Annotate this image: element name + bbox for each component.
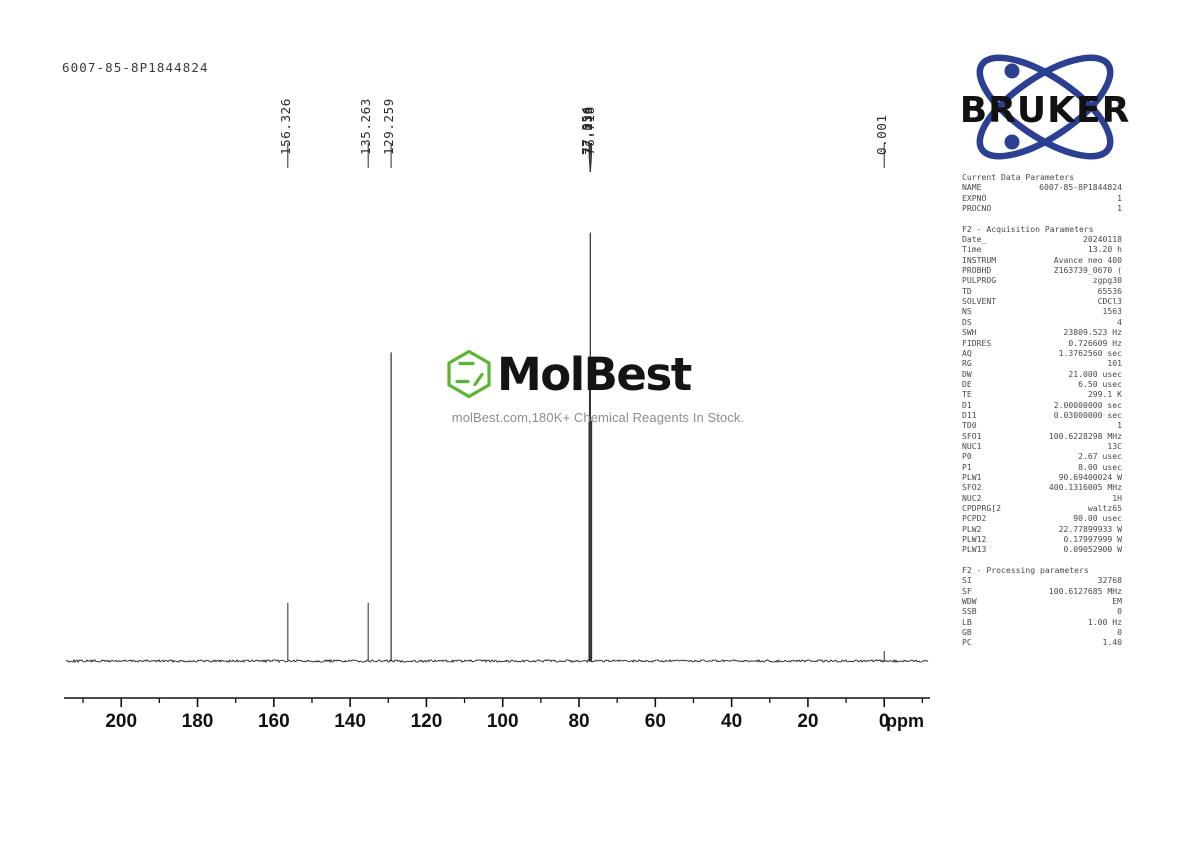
param-value: 1 — [1117, 203, 1122, 213]
param-row: P02.67 usec — [962, 451, 1122, 461]
param-key: P1 — [962, 462, 972, 472]
param-key: SFO1 — [962, 431, 982, 441]
axis-tick-label: 20 — [797, 711, 818, 732]
axis-tick-label: 180 — [182, 711, 214, 732]
param-value: 0.09052900 W — [1064, 544, 1122, 554]
param-value: 21.000 usec — [1068, 369, 1122, 379]
param-row: PROBHDZ163739_0670 ( — [962, 265, 1122, 275]
param-row: D12.00000000 sec — [962, 400, 1122, 410]
param-value: 1.40 — [1103, 637, 1123, 647]
param-value: 1.00 Hz — [1088, 617, 1122, 627]
axis-tick-label: 80 — [568, 711, 589, 732]
param-value: 4 — [1117, 317, 1122, 327]
param-value: 101 — [1107, 358, 1122, 368]
param-value: 0.726609 Hz — [1068, 338, 1122, 348]
param-value: 0 — [1117, 606, 1122, 616]
param-value: 13.20 h — [1088, 244, 1122, 254]
param-key: AQ — [962, 348, 972, 358]
param-key: PLW1 — [962, 472, 982, 482]
param-row: SI32768 — [962, 575, 1122, 585]
param-row: LB1.00 Hz — [962, 617, 1122, 627]
spectrum-canvas: 200180160140120100806040200ppm — [0, 0, 940, 760]
axis-unit-label: ppm — [886, 711, 924, 731]
param-value: Avance neo 400 — [1054, 255, 1122, 265]
param-section-title-current: Current Data Parameters — [962, 172, 1122, 182]
param-key: PULPROG — [962, 275, 996, 285]
param-key: NS — [962, 306, 972, 316]
param-value: 90.00 usec — [1073, 513, 1122, 523]
param-value: Z163739_0670 ( — [1054, 265, 1122, 275]
param-value: 100.6127685 MHz — [1049, 586, 1122, 596]
param-key: NUC2 — [962, 493, 982, 503]
param-key: SWH — [962, 327, 977, 337]
axis-tick-label: 60 — [645, 711, 666, 732]
param-row: PCPD290.00 usec — [962, 513, 1122, 523]
param-key: P0 — [962, 451, 972, 461]
axis-tick-label: 40 — [721, 711, 742, 732]
param-row: PLW120.17997999 W — [962, 534, 1122, 544]
param-value: 0 — [1117, 627, 1122, 637]
param-key: TD — [962, 286, 972, 296]
param-row: SWH23809.523 Hz — [962, 327, 1122, 337]
param-value: 23809.523 Hz — [1064, 327, 1122, 337]
peak-label: 135.263 — [358, 98, 373, 155]
param-row: Time13.20 h — [962, 244, 1122, 254]
param-row: INSTRUMAvance neo 400 — [962, 255, 1122, 265]
param-value: 0.03000000 sec — [1054, 410, 1122, 420]
param-key: SI — [962, 575, 972, 585]
param-row: DE6.50 usec — [962, 379, 1122, 389]
param-section-title-acquisition: F2 - Acquisition Parameters — [962, 224, 1122, 234]
peak-label: 156.326 — [278, 98, 293, 155]
param-key: LB — [962, 617, 972, 627]
param-row: WDWEM — [962, 596, 1122, 606]
param-value: 6007-85-8P1844824 — [1039, 182, 1122, 192]
spectrum-trace — [66, 233, 928, 662]
param-key: PCPD2 — [962, 513, 986, 523]
param-value: 6.50 usec — [1078, 379, 1122, 389]
nmr-spectrum-plot: 200180160140120100806040200ppm — [0, 0, 940, 760]
param-row: TD65536 — [962, 286, 1122, 296]
param-value: waltz65 — [1088, 503, 1122, 513]
param-key: PC — [962, 637, 972, 647]
param-value: 1.3762560 sec — [1059, 348, 1122, 358]
param-key: Time — [962, 244, 982, 254]
axis-tick-label: 140 — [334, 711, 366, 732]
peak-label: 76.718 — [582, 106, 597, 155]
param-key: PROBHD — [962, 265, 991, 275]
param-list-current: NAME6007-85-8P1844824EXPNO1PROCNO1 — [962, 182, 1122, 213]
acquisition-parameters-panel: Current Data Parameters NAME6007-85-8P18… — [962, 172, 1122, 648]
orbit-node-bottom — [1005, 135, 1020, 150]
axis-tick-label: 100 — [487, 711, 519, 732]
param-key: PLW13 — [962, 544, 986, 554]
param-row: SOLVENTCDCl3 — [962, 296, 1122, 306]
param-key: DE — [962, 379, 972, 389]
param-value: 32768 — [1098, 575, 1122, 585]
param-value: 1563 — [1103, 306, 1123, 316]
param-row: PLW222.77899933 W — [962, 524, 1122, 534]
param-row: NAME6007-85-8P1844824 — [962, 182, 1122, 192]
param-row: SFO1100.6228298 MHz — [962, 431, 1122, 441]
param-row: EXPNO1 — [962, 193, 1122, 203]
param-key: DW — [962, 369, 972, 379]
param-value: 22.77899933 W — [1059, 524, 1122, 534]
param-value: 1 — [1117, 193, 1122, 203]
param-key: SSB — [962, 606, 977, 616]
param-value: EM — [1112, 596, 1122, 606]
param-key: INSTRUM — [962, 255, 996, 265]
param-key: EXPNO — [962, 193, 986, 203]
param-key: D11 — [962, 410, 977, 420]
param-row: CPDPRG[2waltz65 — [962, 503, 1122, 513]
param-row: NS1563 — [962, 306, 1122, 316]
param-list-acquisition: Date_20240118Time13.20 hINSTRUMAvance ne… — [962, 234, 1122, 555]
param-key: DS — [962, 317, 972, 327]
param-value: 100.6228298 MHz — [1049, 431, 1122, 441]
param-row: SFO2400.1316005 MHz — [962, 482, 1122, 492]
param-row: TE299.1 K — [962, 389, 1122, 399]
param-key: NUC1 — [962, 441, 982, 451]
param-row: PLW130.09052900 W — [962, 544, 1122, 554]
param-key: TE — [962, 389, 972, 399]
param-row: DW21.000 usec — [962, 369, 1122, 379]
param-row: RG101 — [962, 358, 1122, 368]
param-key: TD0 — [962, 420, 977, 430]
param-row: AQ1.3762560 sec — [962, 348, 1122, 358]
param-value: 1 — [1117, 420, 1122, 430]
param-row: NUC21H — [962, 493, 1122, 503]
param-value: 2.00000000 sec — [1054, 400, 1122, 410]
param-row: SF100.6127685 MHz — [962, 586, 1122, 596]
param-key: GB — [962, 627, 972, 637]
bruker-logo-svg: BRUKER — [952, 52, 1138, 162]
param-value: 65536 — [1098, 286, 1122, 296]
axis-tick-label: 160 — [258, 711, 290, 732]
peak-label: 0.001 — [874, 114, 889, 155]
param-value: 0.17997999 W — [1064, 534, 1122, 544]
peak-label: 129.259 — [381, 98, 396, 155]
param-list-processing: SI32768SF100.6127685 MHzWDWEMSSB0LB1.00 … — [962, 575, 1122, 647]
param-key: PLW2 — [962, 524, 982, 534]
param-row: PC1.40 — [962, 637, 1122, 647]
param-value: 1H — [1112, 493, 1122, 503]
param-row: DS4 — [962, 317, 1122, 327]
bruker-atom-logo: BRUKER — [952, 52, 1138, 162]
param-row: Date_20240118 — [962, 234, 1122, 244]
orbit-node-top — [1005, 64, 1020, 79]
ppm-axis: 200180160140120100806040200ppm — [64, 698, 930, 732]
param-row: TD01 — [962, 420, 1122, 430]
param-key: WDW — [962, 596, 977, 606]
param-value: 13C — [1107, 441, 1122, 451]
param-key: PROCNO — [962, 203, 991, 213]
param-row: GB0 — [962, 627, 1122, 637]
param-row: PULPROGzgpg30 — [962, 275, 1122, 285]
param-key: SF — [962, 586, 972, 596]
param-value: 299.1 K — [1088, 389, 1122, 399]
param-row: NUC113C — [962, 441, 1122, 451]
param-key: Date_ — [962, 234, 986, 244]
param-key: SOLVENT — [962, 296, 996, 306]
param-row: SSB0 — [962, 606, 1122, 616]
param-key: RG — [962, 358, 972, 368]
param-value: CDCl3 — [1098, 296, 1122, 306]
param-key: CPDPRG[2 — [962, 503, 1001, 513]
param-key: SFO2 — [962, 482, 982, 492]
param-section-title-processing: F2 - Processing parameters — [962, 565, 1122, 575]
axis-tick-label: 200 — [105, 711, 137, 732]
param-row: P18.00 usec — [962, 462, 1122, 472]
param-row: PROCNO1 — [962, 203, 1122, 213]
param-row: FIDRES0.726609 Hz — [962, 338, 1122, 348]
bruker-wordmark: BRUKER — [960, 90, 1131, 131]
param-value: 90.69400024 W — [1059, 472, 1122, 482]
param-value: 2.67 usec — [1078, 451, 1122, 461]
param-key: FIDRES — [962, 338, 991, 348]
param-key: PLW12 — [962, 534, 986, 544]
param-key: NAME — [962, 182, 982, 192]
param-value: zgpg30 — [1093, 275, 1122, 285]
axis-tick-label: 120 — [411, 711, 443, 732]
param-value: 400.1316005 MHz — [1049, 482, 1122, 492]
param-value: 20240118 — [1083, 234, 1122, 244]
param-value: 8.00 usec — [1078, 462, 1122, 472]
param-row: D110.03000000 sec — [962, 410, 1122, 420]
param-row: PLW190.69400024 W — [962, 472, 1122, 482]
param-key: D1 — [962, 400, 972, 410]
